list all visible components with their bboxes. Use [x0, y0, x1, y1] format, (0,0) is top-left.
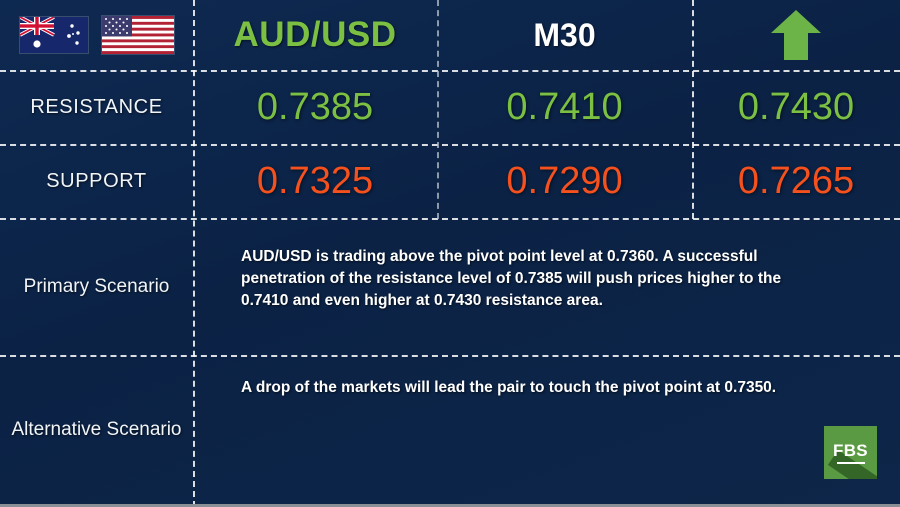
united-states-flag-icon [102, 16, 174, 54]
support-row: SUPPORT 0.7325 0.7290 0.7265 [0, 144, 900, 218]
divider-resistance-support [0, 144, 900, 146]
alternative-scenario-label-cell: Alternative Scenario [0, 355, 193, 504]
alternative-scenario-row: Alternative Scenario A drop of the marke… [0, 355, 900, 504]
primary-scenario-label: Primary Scenario [24, 273, 170, 301]
support-label-cell: SUPPORT [0, 144, 193, 218]
resistance-value-3: 0.7430 [738, 86, 854, 129]
timeframe-cell: M30 [437, 0, 692, 70]
support-value-1-cell: 0.7325 [193, 144, 437, 218]
resistance-label: RESISTANCE [30, 96, 162, 119]
alternative-scenario-text: A drop of the markets will lead the pair… [241, 377, 805, 399]
arrow-up-icon [768, 7, 824, 63]
primary-scenario-label-cell: Primary Scenario [0, 218, 193, 355]
fbs-logo-text: FBS [833, 442, 868, 459]
fbs-logo-mark: FBS [824, 426, 877, 479]
currency-flags [0, 0, 193, 70]
alternative-scenario-label: Alternative Scenario [11, 416, 181, 444]
trend-direction-cell [692, 0, 900, 70]
divider-column-1-2 [437, 0, 439, 219]
forex-signal-card: AUD/USD M30 RESISTANCE 0.7385 0.7410 0.7… [0, 0, 900, 507]
support-value-3: 0.7265 [738, 160, 854, 203]
support-value-3-cell: 0.7265 [692, 144, 900, 218]
divider-primary-alternative [0, 355, 900, 357]
resistance-value-1-cell: 0.7385 [193, 70, 437, 144]
resistance-label-cell: RESISTANCE [0, 70, 193, 144]
alternative-scenario-body: A drop of the markets will lead the pair… [193, 355, 900, 504]
support-value-2: 0.7290 [506, 160, 622, 203]
support-value-2-cell: 0.7290 [437, 144, 692, 218]
divider-support-primary [0, 218, 900, 220]
divider-label-column [193, 0, 195, 507]
header-row: AUD/USD M30 [0, 0, 900, 70]
support-value-1: 0.7325 [257, 160, 373, 203]
primary-scenario-row: Primary Scenario AUD/USD is trading abov… [0, 218, 900, 355]
timeframe-label: M30 [533, 17, 595, 54]
resistance-value-2-cell: 0.7410 [437, 70, 692, 144]
resistance-value-2: 0.7410 [506, 86, 622, 129]
currency-pair-cell: AUD/USD [193, 0, 437, 70]
fbs-logo: FBS [824, 426, 877, 479]
australia-flag-icon [20, 17, 88, 53]
divider-header-resistance [0, 70, 900, 72]
divider-column-2-3 [692, 0, 694, 219]
resistance-row: RESISTANCE 0.7385 0.7410 0.7430 [0, 70, 900, 144]
primary-scenario-text: AUD/USD is trading above the pivot point… [241, 246, 805, 312]
resistance-value-3-cell: 0.7430 [692, 70, 900, 144]
resistance-value-1: 0.7385 [257, 86, 373, 129]
primary-scenario-body: AUD/USD is trading above the pivot point… [193, 218, 900, 355]
currency-pair-label: AUD/USD [234, 15, 397, 55]
fbs-logo-underline [837, 462, 865, 464]
support-label: SUPPORT [46, 170, 147, 193]
